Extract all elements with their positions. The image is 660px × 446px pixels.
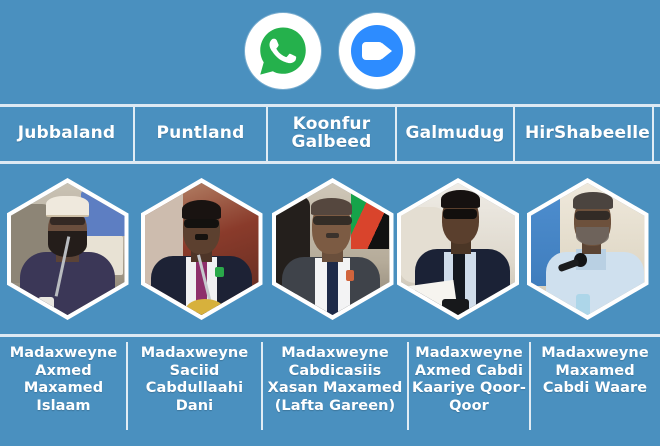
leader-name-text: Madaxweyne Axmed Maxamed Islaam	[0, 345, 127, 416]
leader-photo-cell-jubbaland[interactable]	[0, 166, 135, 332]
state-label: Galmudug	[405, 125, 504, 143]
state-label: Koonfur Galbeed	[291, 116, 371, 152]
name-divider-4	[529, 342, 531, 430]
leader-name-galmudug[interactable]: Madaxweyne Axmed Cabdi Kaariye Qoor-Qoor	[408, 337, 530, 446]
leader-photo-cell-hirshabeelle[interactable]	[515, 166, 660, 332]
state-label: HirShabeelle	[525, 125, 650, 143]
hex-portrait-hirshabeelle	[527, 178, 649, 320]
state-header-koonfur-galbeed[interactable]: Koonfur Galbeed	[268, 107, 397, 161]
leader-name-text: Madaxweyne Cabdicasiis Xasan Maxamed (La…	[262, 345, 408, 416]
leader-name-text: Madaxweyne Axmed Cabdi Kaariye Qoor-Qoor	[408, 345, 530, 416]
leader-name-hirshabeelle[interactable]: Madaxweyne Maxamed Cabdi Waare	[530, 337, 660, 446]
poster-canvas: Jubbaland Puntland Koonfur Galbeed Galmu…	[0, 0, 660, 446]
video-camera-icon	[362, 42, 392, 60]
state-label: Puntland	[157, 125, 245, 143]
leader-photo-cell-koonfur-galbeed[interactable]	[268, 166, 397, 332]
state-band-right-edge	[652, 107, 654, 161]
zoom-icon-button[interactable]	[339, 13, 415, 89]
state-name-row: Jubbaland Puntland Koonfur Galbeed Galmu…	[0, 107, 660, 161]
leader-photo-cell-puntland[interactable]	[135, 166, 268, 332]
state-header-jubbaland[interactable]: Jubbaland	[0, 107, 135, 161]
hex-portrait-galmudug	[397, 178, 515, 320]
leader-name-puntland[interactable]: Madaxweyne Saciid Cabdullaahi Dani	[127, 337, 262, 446]
state-label: Jubbaland	[18, 125, 116, 143]
leader-name-text: Madaxweyne Maxamed Cabdi Waare	[530, 345, 660, 398]
divider-mid	[0, 161, 660, 164]
state-header-hirshabeelle[interactable]: HirShabeelle	[515, 107, 660, 161]
name-divider-1	[126, 342, 128, 430]
zoom-icon	[351, 25, 403, 77]
leader-name-jubbaland[interactable]: Madaxweyne Axmed Maxamed Islaam	[0, 337, 127, 446]
leader-photo-row	[0, 166, 660, 332]
state-header-galmudug[interactable]: Galmudug	[397, 107, 515, 161]
state-header-puntland[interactable]: Puntland	[135, 107, 268, 161]
leader-name-koonfur-galbeed[interactable]: Madaxweyne Cabdicasiis Xasan Maxamed (La…	[262, 337, 408, 446]
hex-portrait-puntland	[141, 178, 263, 320]
leader-name-text: Madaxweyne Saciid Cabdullaahi Dani	[127, 345, 262, 416]
name-divider-2	[261, 342, 263, 430]
whatsapp-icon	[257, 25, 309, 77]
hex-portrait-koonfur-galbeed	[272, 178, 394, 320]
whatsapp-icon-button[interactable]	[245, 13, 321, 89]
app-icon-row	[0, 8, 660, 94]
leader-photo-cell-galmudug[interactable]	[397, 166, 515, 332]
leader-name-row: Madaxweyne Axmed Maxamed Islaam Madaxwey…	[0, 337, 660, 446]
hex-portrait-jubbaland	[7, 178, 129, 320]
name-divider-3	[407, 342, 409, 430]
